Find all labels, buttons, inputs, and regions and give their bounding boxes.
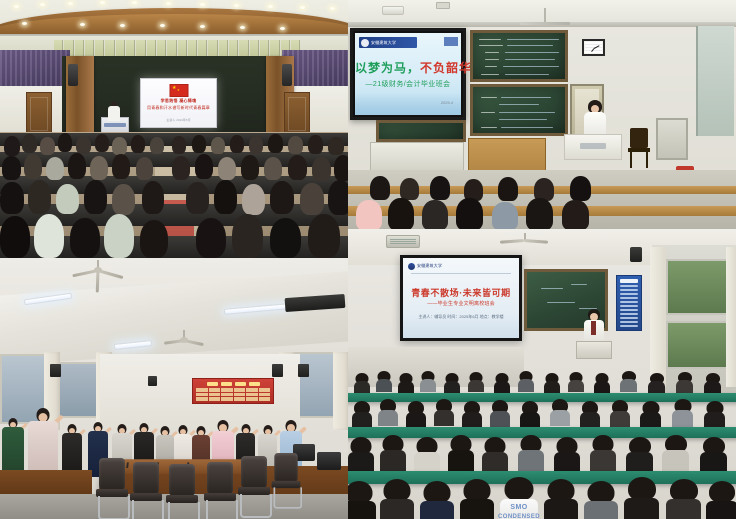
slide-title: 以梦为马，不负韶华 <box>355 59 461 76</box>
university-logo: 安徽建筑大学 <box>359 37 417 48</box>
slide-subtitle: 用青春和汗水谱写新时代青春篇章 <box>141 105 216 111</box>
student-white-shirt: SMO CONDENSED <box>500 477 538 519</box>
lectern-emblem <box>580 143 606 149</box>
conference-chair[interactable] <box>166 464 198 519</box>
downlight <box>100 1 105 4</box>
presenter <box>108 101 120 121</box>
university-name: 安徽建筑大学 <box>417 263 442 269</box>
class-schedule-poster <box>616 275 642 331</box>
party-flag-icon: ★ ★ <box>169 84 188 97</box>
downlight <box>132 1 137 4</box>
slide-title-part-2: 不负韶华 <box>420 61 472 75</box>
downlight <box>240 26 245 29</box>
university-name: 安徽建筑大学 <box>371 40 396 46</box>
downlight <box>200 25 205 28</box>
downlight <box>268 5 273 8</box>
ceiling-fan-blade <box>520 22 570 25</box>
chalkboard-side <box>376 120 466 142</box>
wall-clock-icon <box>582 39 605 56</box>
slide-date: 2025.4 <box>441 100 453 105</box>
wall-display-screen: 安徽建筑大学 以梦为马，不负韶华 —21级财务/会计毕业班会 2025.4 <box>350 28 466 120</box>
projection-screen: ★ ★ 学思践悟 凝心铸魂 用青春和汗水谱写新时代青春篇章 主讲人 2024年5… <box>140 78 217 128</box>
speaker-box <box>272 364 283 377</box>
panel-bottom-left-meeting-room <box>0 258 349 519</box>
downlight <box>14 5 19 8</box>
conference-chair[interactable] <box>272 453 301 507</box>
downlight <box>80 23 85 26</box>
slide-divider <box>411 273 511 274</box>
slide-subtitle: —21级财务/会计毕业班会 <box>355 79 461 89</box>
downlight <box>68 2 73 5</box>
downlight <box>160 24 165 27</box>
slide-title: 青春不散场·未来皆可期 <box>403 286 519 299</box>
wall-cabinet <box>656 118 688 160</box>
speaker-cabinet <box>282 64 292 86</box>
conference-chair[interactable] <box>204 462 236 519</box>
speaker-box <box>298 364 309 377</box>
university-logo: 安徽建筑大学 <box>408 262 462 270</box>
air-conditioner-icon <box>382 6 404 15</box>
speaker-box <box>50 364 61 377</box>
conference-chair[interactable] <box>130 462 162 519</box>
lectern <box>564 134 622 160</box>
side-window <box>696 26 734 136</box>
panel-bottom-right-lecture-room: 安徽建筑大学 青春不散场·未来皆可期 ——毕业生专业文明离校班会 主讲人：辅导员… <box>348 229 736 519</box>
conference-chair[interactable] <box>96 458 128 518</box>
chalkboard-lower <box>470 84 568 136</box>
panel-top-right-classroom: 安徽建筑大学 以梦为马，不负韶华 —21级财务/会计毕业班会 2025.4 <box>348 0 736 230</box>
honour-roll-display-board <box>192 378 274 404</box>
audience <box>0 128 352 258</box>
ceiling-fan <box>162 330 206 342</box>
window <box>666 259 730 315</box>
speaker-cabinet <box>68 64 78 86</box>
downlight <box>200 3 205 6</box>
speaker-box <box>630 247 642 262</box>
shirt-text-line-2: CONDENSED <box>498 514 540 519</box>
air-conditioner-icon <box>386 235 420 248</box>
computer-monitor <box>317 452 341 470</box>
ceiling-fan <box>68 260 128 274</box>
shirt-text-line-1: SMO <box>510 504 527 511</box>
slide-corner-accent <box>444 37 458 46</box>
slide-subtitle: ——毕业生专业文明离校班会 <box>403 300 519 307</box>
student-seating: SMO CONDENSED <box>348 349 736 519</box>
student-desks <box>348 176 736 230</box>
downlight <box>22 22 27 25</box>
photo-collage: ★ ★ 学思践悟 凝心铸魂 用青春和汗水谱写新时代青春篇章 主讲人 2024年5… <box>0 0 736 519</box>
downlight <box>280 27 285 30</box>
teacher-presenter <box>584 100 606 138</box>
downlight <box>330 7 335 10</box>
ceiling-fan <box>498 233 550 245</box>
wooden-chair <box>628 128 650 168</box>
conference-chair[interactable] <box>238 456 270 516</box>
downlight <box>166 2 171 5</box>
speaker-box <box>148 376 157 386</box>
downlight <box>234 4 239 7</box>
projector-mount <box>436 2 450 9</box>
downlight <box>40 3 45 6</box>
chalkboard-upper <box>470 30 568 82</box>
teacher-presenter <box>584 309 604 343</box>
slide-title: 学思践悟 凝心铸魂 <box>141 98 216 104</box>
slide-meta: 主讲人：辅导员 时间：2025年6月 地点：教学楼 <box>403 314 519 320</box>
downlight <box>300 6 305 9</box>
slide-title-part-1: 以梦为马， <box>355 61 420 75</box>
panel-top-left-auditorium: ★ ★ 学思践悟 凝心铸魂 用青春和汗水谱写新时代青春篇章 主讲人 2024年5… <box>0 0 352 258</box>
projection-screen: 安徽建筑大学 青春不散场·未来皆可期 ——毕业生专业文明离校班会 主讲人：辅导员… <box>400 255 522 341</box>
slide-footer: 主讲人 2024年5月 <box>141 118 216 122</box>
downlight <box>120 24 125 27</box>
